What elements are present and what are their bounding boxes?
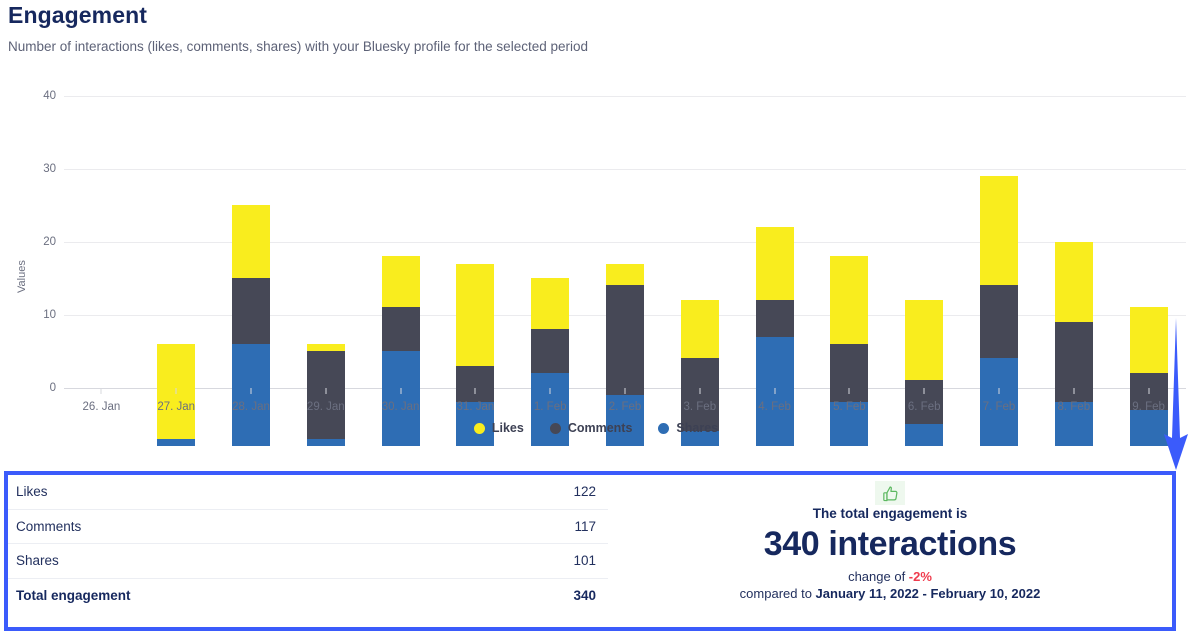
bar-segment-likes[interactable] <box>531 278 569 329</box>
table-row: Likes122 <box>8 475 608 510</box>
x-tick-mark <box>924 388 925 394</box>
bar-stack-28-jan[interactable] <box>231 136 271 446</box>
x-axis-label: 1. Feb <box>534 401 567 413</box>
legend-label: Shares <box>676 421 718 435</box>
bar-segment-comments[interactable] <box>232 278 270 344</box>
x-tick-mark <box>550 388 551 394</box>
page-title: Engagement <box>8 2 147 29</box>
x-tick-mark <box>625 388 626 394</box>
bar-segment-shares[interactable] <box>157 439 195 446</box>
legend-dot-icon <box>474 423 485 434</box>
row-label: Comments <box>16 519 81 534</box>
bar-segment-comments[interactable] <box>980 285 1018 358</box>
row-label: Likes <box>16 484 48 499</box>
y-tick-label: 0 <box>30 382 56 394</box>
y-axis-title: Values <box>16 260 28 293</box>
page-subtitle: Number of interactions (likes, comments,… <box>8 39 588 54</box>
bar-segment-comments[interactable] <box>531 329 569 373</box>
bar-segment-likes[interactable] <box>382 256 420 307</box>
table-row: Shares101 <box>8 544 608 579</box>
engagement-stacked-bar-chart: Values 010203040 26. Jan27. Jan28. Jan29… <box>0 78 1192 446</box>
bar-segment-likes[interactable] <box>905 300 943 380</box>
change-prefix: change of <box>848 569 909 584</box>
x-tick-mark <box>325 388 326 394</box>
bar-stack-8-feb[interactable] <box>1054 136 1094 446</box>
y-tick-label: 20 <box>30 236 56 248</box>
table-row: Total engagement340 <box>8 579 608 614</box>
y-tick-label: 40 <box>30 90 56 102</box>
x-axis-label: 26. Jan <box>83 401 121 413</box>
callout-headline: 340 interactions <box>764 525 1017 563</box>
bar-stack-30-jan[interactable] <box>381 136 421 446</box>
thumbs-up-icon <box>875 481 905 505</box>
legend-label: Comments <box>568 421 633 435</box>
x-axis-label: 5. Feb <box>833 401 866 413</box>
bar-stack-3-feb[interactable] <box>680 136 720 446</box>
compare-range: January 11, 2022 - February 10, 2022 <box>816 586 1041 601</box>
x-axis-label: 4. Feb <box>758 401 791 413</box>
row-label: Total engagement <box>16 588 131 603</box>
engagement-report: Engagement Number of interactions (likes… <box>0 0 1192 638</box>
x-axis-label: 30. Jan <box>382 401 420 413</box>
x-axis-label: 6. Feb <box>908 401 941 413</box>
x-tick-mark <box>1073 388 1074 394</box>
x-tick-mark <box>999 388 1000 394</box>
bar-segment-likes[interactable] <box>681 300 719 358</box>
legend-dot-icon <box>658 423 669 434</box>
x-tick-mark <box>1148 388 1149 394</box>
bar-stack-31-jan[interactable] <box>455 136 495 446</box>
row-label: Shares <box>16 553 59 568</box>
legend-item-likes[interactable]: Likes <box>474 421 524 435</box>
x-tick-mark <box>849 388 850 394</box>
bar-segment-likes[interactable] <box>830 256 868 344</box>
bar-stack-29-jan[interactable] <box>306 136 346 446</box>
bar-stack-7-feb[interactable] <box>979 136 1019 446</box>
bar-stack-1-feb[interactable] <box>530 136 570 446</box>
bar-segment-comments[interactable] <box>382 307 420 351</box>
bar-stack-5-feb[interactable] <box>829 136 869 446</box>
callout-lead: The total engagement is <box>813 506 968 521</box>
table-row: Comments117 <box>8 510 608 545</box>
x-axis-label: 28. Jan <box>232 401 270 413</box>
row-value: 101 <box>573 553 596 568</box>
plot-area <box>64 78 1186 446</box>
bar-stack-26-jan[interactable] <box>81 136 121 446</box>
row-value: 340 <box>573 588 596 603</box>
bar-stack-2-feb[interactable] <box>605 136 645 446</box>
x-tick-mark <box>101 388 102 394</box>
bar-stack-4-feb[interactable] <box>755 136 795 446</box>
x-tick-mark <box>176 388 177 394</box>
bar-segment-likes[interactable] <box>1055 242 1093 322</box>
legend-dot-icon <box>550 423 561 434</box>
legend-item-comments[interactable]: Comments <box>550 421 633 435</box>
x-tick-mark <box>699 388 700 394</box>
total-engagement-callout: The total engagement is 340 interactions… <box>608 475 1172 627</box>
compare-line: compared to January 11, 2022 - February … <box>740 586 1041 601</box>
bar-segment-likes[interactable] <box>980 176 1018 286</box>
x-axis-label: 29. Jan <box>307 401 345 413</box>
bar-segment-likes[interactable] <box>606 264 644 286</box>
bar-stack-27-jan[interactable] <box>156 136 196 446</box>
x-axis-label: 3. Feb <box>683 401 716 413</box>
x-axis-label: 8. Feb <box>1057 401 1090 413</box>
x-axis-label: 27. Jan <box>157 401 195 413</box>
change-value: -2% <box>909 569 932 584</box>
bar-segment-comments[interactable] <box>456 366 494 403</box>
down-arrow-icon <box>1158 318 1192 476</box>
x-axis-label: 31. Jan <box>457 401 495 413</box>
x-axis-label: 2. Feb <box>609 401 642 413</box>
bar-segment-likes[interactable] <box>232 205 270 278</box>
compare-prefix: compared to <box>740 586 816 601</box>
row-value: 117 <box>574 519 596 534</box>
x-tick-mark <box>475 388 476 394</box>
y-tick-label: 30 <box>30 163 56 175</box>
row-value: 122 <box>573 484 596 499</box>
bar-segment-comments[interactable] <box>756 300 794 337</box>
change-line: change of -2% <box>848 569 932 584</box>
bar-segment-likes[interactable] <box>456 264 494 366</box>
bar-segment-shares[interactable] <box>307 439 345 446</box>
x-tick-mark <box>774 388 775 394</box>
y-tick-label: 10 <box>30 309 56 321</box>
bar-segment-likes[interactable] <box>307 344 345 351</box>
bar-segment-likes[interactable] <box>756 227 794 300</box>
x-tick-mark <box>400 388 401 394</box>
x-axis-label: 7. Feb <box>983 401 1016 413</box>
bar-segment-comments[interactable] <box>606 285 644 395</box>
x-tick-mark <box>251 388 252 394</box>
chart-legend: LikesCommentsShares <box>0 421 1192 435</box>
bar-stack-6-feb[interactable] <box>904 136 944 446</box>
engagement-breakdown-table: Likes122Comments117Shares101Total engage… <box>8 475 608 627</box>
legend-item-shares[interactable]: Shares <box>658 421 718 435</box>
summary-panel: Likes122Comments117Shares101Total engage… <box>4 471 1176 631</box>
legend-label: Likes <box>492 421 524 435</box>
